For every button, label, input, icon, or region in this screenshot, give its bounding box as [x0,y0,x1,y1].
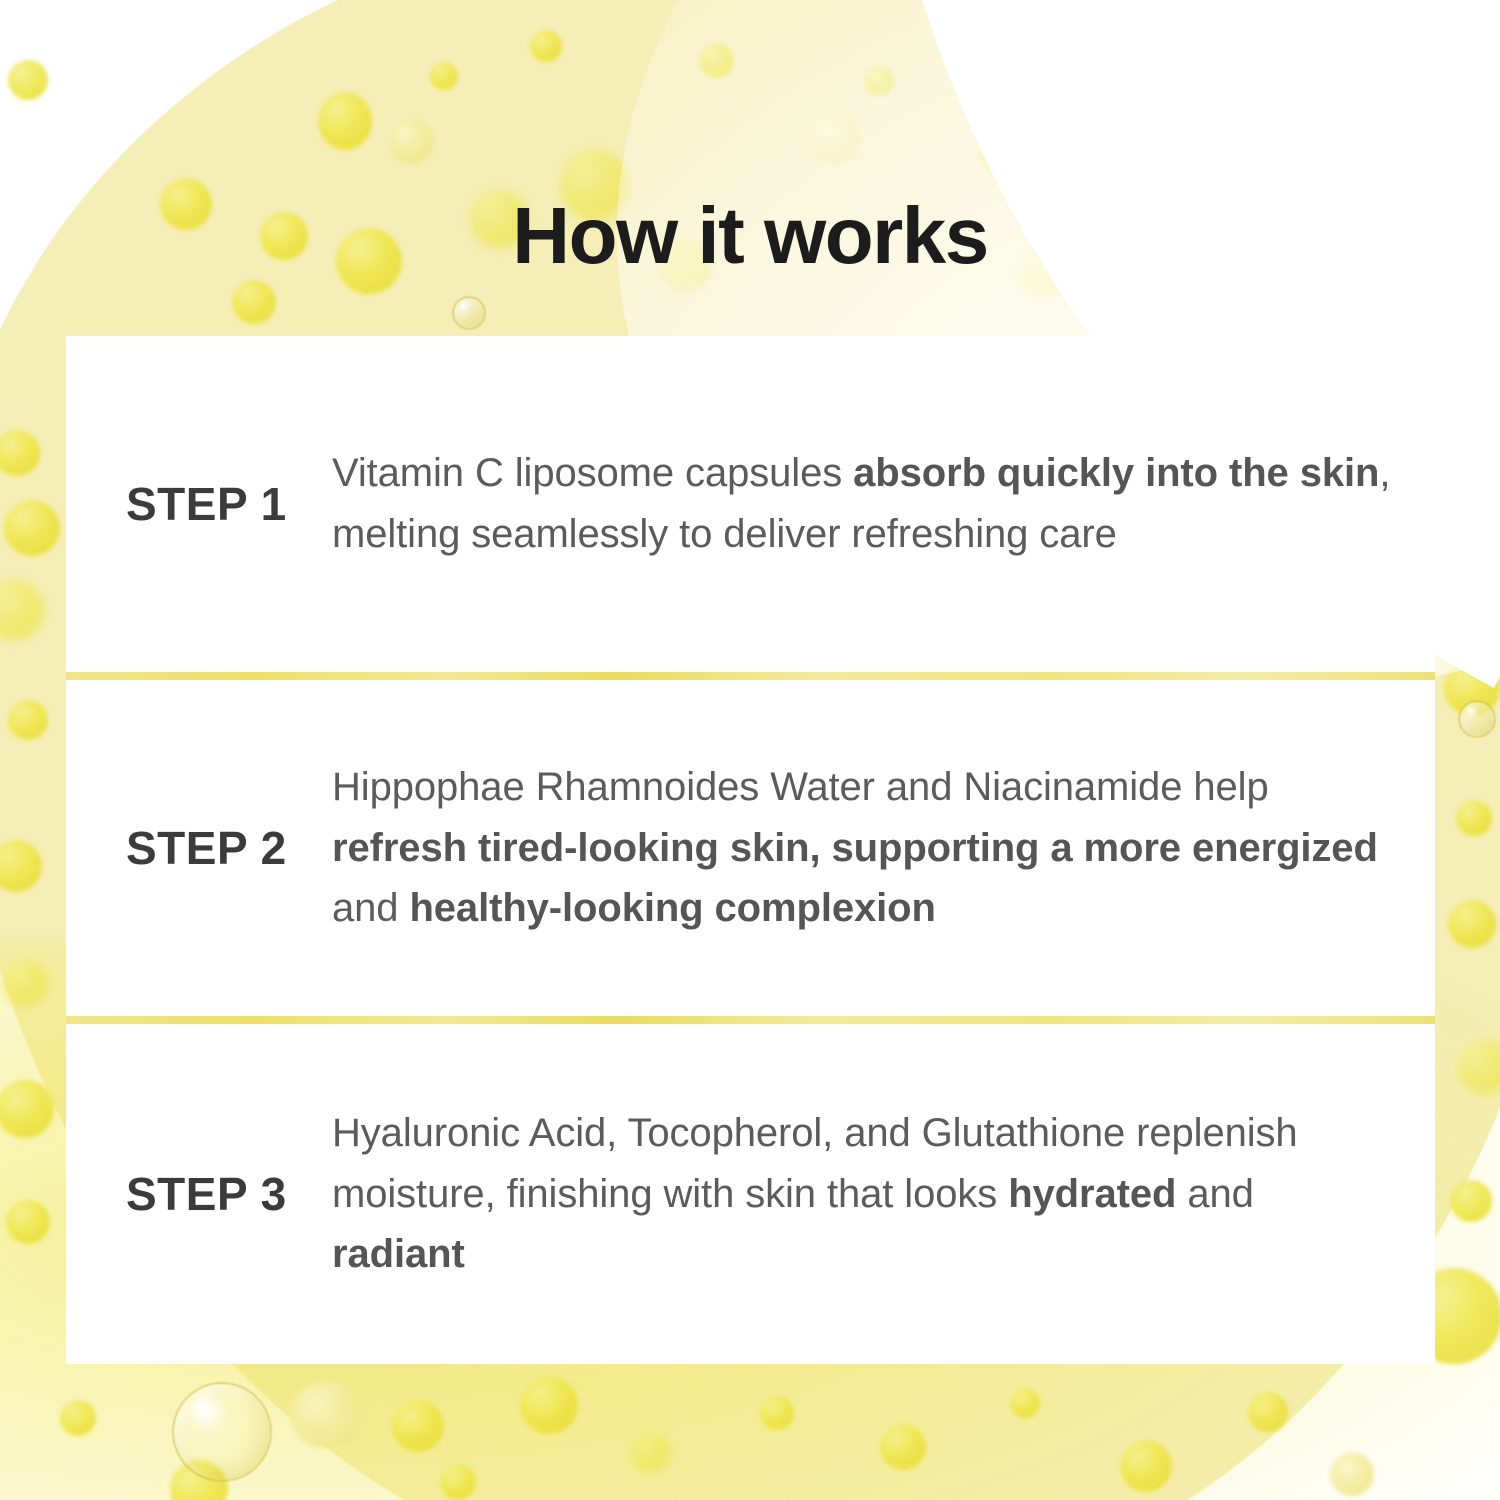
step-panel-3: STEP 3 Hyaluronic Acid, Tocopherol, and … [66,1024,1435,1364]
step-label-3: STEP 3 [66,1167,332,1221]
step-label-1: STEP 1 [66,477,332,531]
step-label-2: STEP 2 [66,821,332,875]
panel-divider-2 [66,1016,1435,1024]
steps-container: STEP 1 Vitamin C liposome capsules absor… [66,336,1435,1364]
step-panel-2: STEP 2 Hippophae Rhamnoides Water and Ni… [66,680,1435,1016]
step-body-2: Hippophae Rhamnoides Water and Niacinami… [332,757,1435,939]
panel-divider-1 [66,672,1435,680]
infographic-page: How it works STEP 1 Vitamin C liposome c… [0,0,1500,1500]
page-title: How it works [0,196,1500,276]
step-body-3: Hyaluronic Acid, Tocopherol, and Glutath… [332,1103,1435,1285]
infographic-content: How it works STEP 1 Vitamin C liposome c… [0,0,1500,1500]
step-body-1: Vitamin C liposome capsules absorb quick… [332,443,1435,565]
step-panel-1: STEP 1 Vitamin C liposome capsules absor… [66,336,1435,672]
